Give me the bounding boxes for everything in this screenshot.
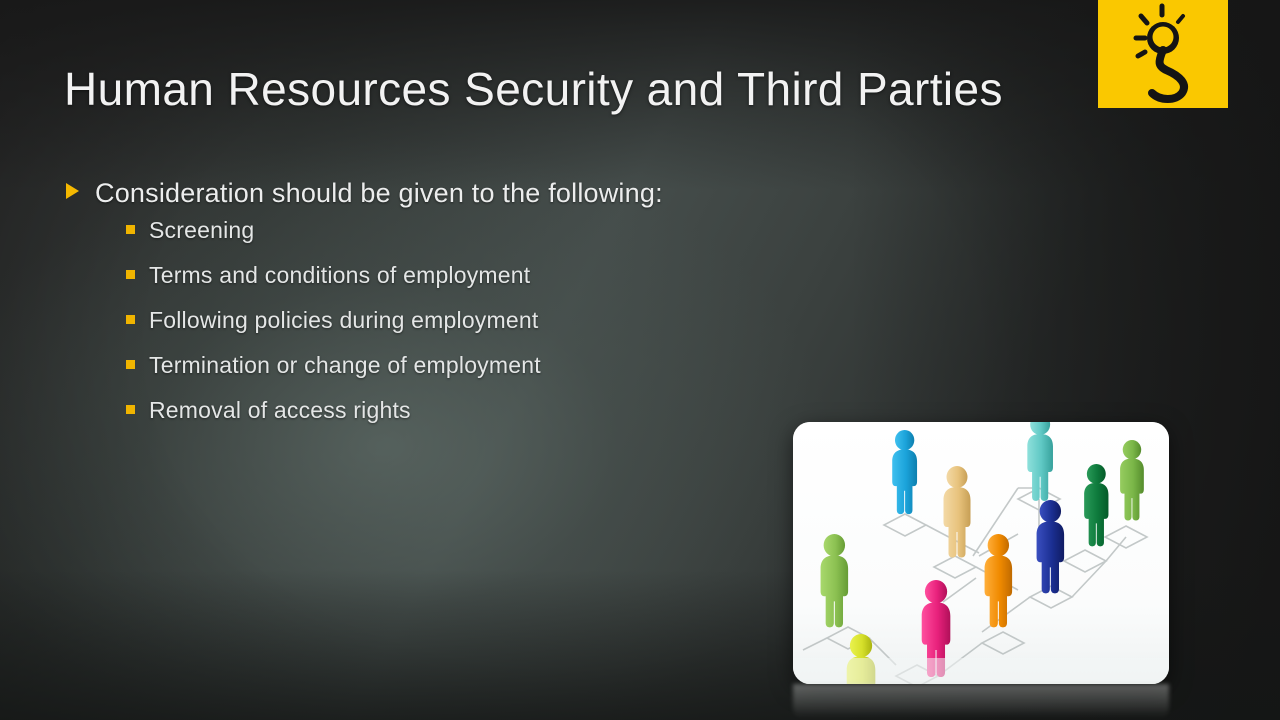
square-bullet-icon <box>126 315 135 324</box>
sub-bullet-text: Terms and conditions of employment <box>149 262 530 289</box>
bullet-list: Consideration should be given to the fol… <box>66 178 886 442</box>
org-chart-people-photo <box>793 422 1169 684</box>
square-bullet-icon <box>126 270 135 279</box>
list-item: Terms and conditions of employment <box>126 262 886 307</box>
list-item: Removal of access rights <box>126 397 886 442</box>
square-bullet-icon <box>126 405 135 414</box>
lightbulb-g-logo <box>1098 0 1228 108</box>
list-item: Termination or change of employment <box>126 352 886 397</box>
triangle-bullet-icon <box>66 183 79 199</box>
square-bullet-icon <box>126 225 135 234</box>
list-item: Screening <box>126 217 886 262</box>
presentation-slide: Human Resources Security and Third Parti… <box>0 0 1280 720</box>
sub-bullet-text: Termination or change of employment <box>149 352 541 379</box>
lead-bullet-item: Consideration should be given to the fol… <box>66 178 886 209</box>
sub-bullet-list: Screening Terms and conditions of employ… <box>66 217 886 442</box>
slide-title: Human Resources Security and Third Parti… <box>64 62 1003 116</box>
sub-bullet-text: Following policies during employment <box>149 307 538 334</box>
list-item: Following policies during employment <box>126 307 886 352</box>
sub-bullet-text: Removal of access rights <box>149 397 411 424</box>
sub-bullet-text: Screening <box>149 217 254 244</box>
lead-bullet-text: Consideration should be given to the fol… <box>95 178 663 209</box>
square-bullet-icon <box>126 360 135 369</box>
